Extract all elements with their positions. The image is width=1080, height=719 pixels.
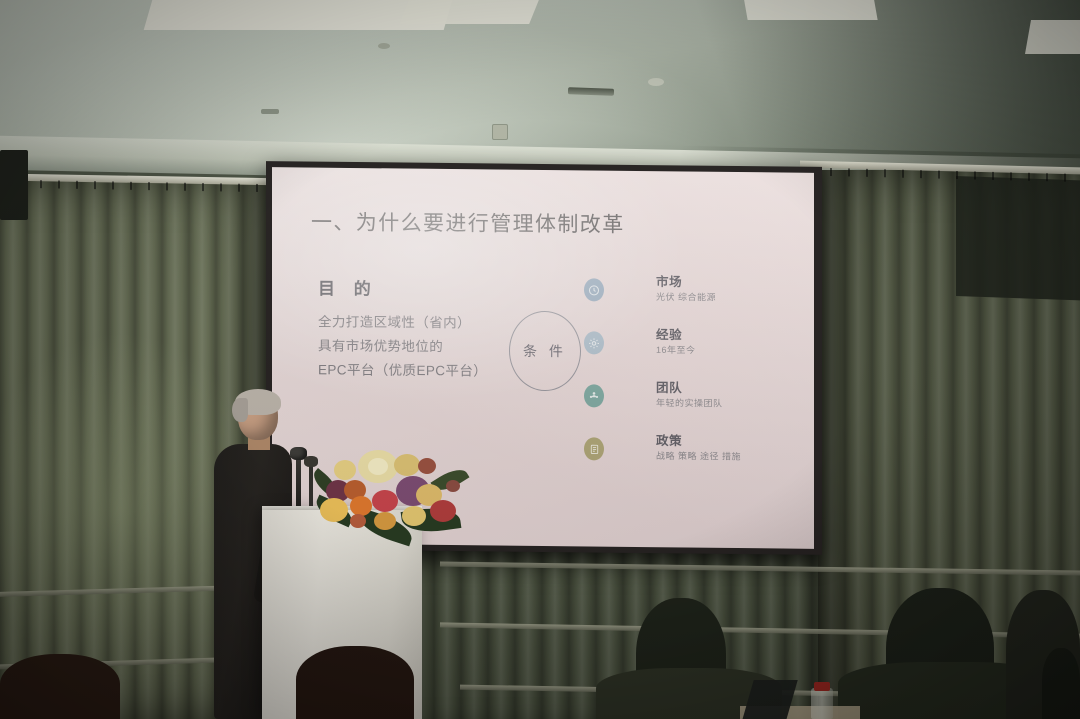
purpose-line: EPC平台（优质EPC平台）	[318, 358, 487, 383]
microphone-stem	[296, 452, 301, 506]
presentation-photo-scene: 一、为什么要进行管理体制改革 目 的 全力打造区域性（省内） 具有市场优势地位的…	[0, 0, 1080, 719]
slide-title: 一、为什么要进行管理体制改革	[311, 206, 625, 238]
feature-item-market: 市场 光伏 综合能源	[584, 268, 794, 320]
feature-title: 经验	[656, 324, 682, 343]
document-icon	[584, 437, 604, 460]
ceiling-downlight	[492, 124, 508, 140]
bottle-cap	[814, 682, 830, 691]
gear-icon	[584, 331, 604, 354]
conditions-label: 条 件	[523, 341, 567, 361]
audience-head	[1042, 648, 1080, 719]
feature-subtitle: 年轻的实操团队	[656, 396, 723, 410]
team-icon	[584, 384, 604, 407]
feature-item-policy: 政策 战略 策略 途径 措施	[584, 427, 794, 479]
feature-list: 市场 光伏 综合能源 经验 16年至今	[584, 268, 794, 482]
ceiling-downlight	[261, 109, 279, 114]
purpose-line: 全力打造区域性（省内）	[318, 310, 487, 335]
feature-item-team: 团队 年轻的实操团队	[584, 374, 794, 426]
audience-head	[296, 646, 414, 719]
ceiling-light-panel	[1025, 20, 1080, 54]
ceiling-light-panel	[399, 0, 539, 24]
conditions-circle: 条 件	[509, 311, 581, 392]
wall-speaker	[0, 150, 28, 220]
purpose-heading: 目 的	[318, 274, 378, 299]
feature-subtitle: 战略 策略 途径 措施	[656, 449, 741, 463]
feature-item-experience: 经验 16年至今	[584, 321, 794, 373]
ceiling-downlight	[378, 43, 390, 49]
purpose-body: 全力打造区域性（省内） 具有市场优势地位的 EPC平台（优质EPC平台）	[318, 310, 487, 383]
feature-title: 政策	[656, 430, 682, 449]
feature-subtitle: 16年至今	[656, 343, 696, 356]
ceiling-light-panel	[742, 0, 877, 20]
purpose-line: 具有市场优势地位的	[318, 334, 487, 359]
feature-title: 市场	[656, 271, 682, 290]
feature-title: 团队	[656, 377, 682, 396]
wall-dark-panel	[956, 176, 1080, 304]
feature-subtitle: 光伏 综合能源	[656, 290, 716, 303]
ceiling-downlight	[648, 78, 664, 86]
clock-icon	[584, 278, 604, 301]
water-bottle	[811, 688, 833, 719]
speaker-hair	[232, 398, 248, 422]
flower-arrangement	[310, 446, 468, 558]
audience-head	[0, 654, 120, 719]
